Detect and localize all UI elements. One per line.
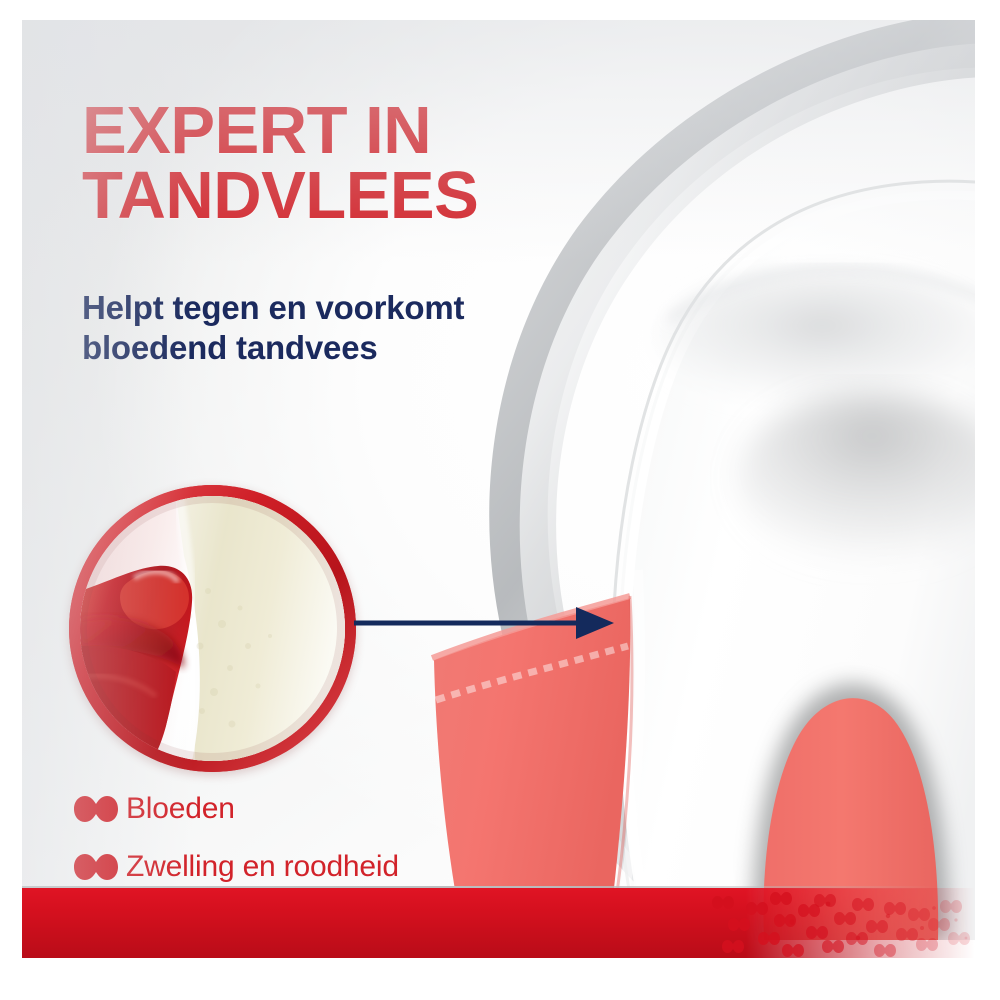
red-dissolve-band xyxy=(22,888,975,958)
page-title: EXPERT IN TANDVLEES xyxy=(82,98,478,228)
pointer-arrow xyxy=(352,603,617,643)
ad-banner: EXPERT IN TANDVLEES Helpt tegen en voork… xyxy=(0,0,1000,1000)
list-item-label: Zwelling en roodheid xyxy=(126,852,399,882)
list-item-label: Bloeden xyxy=(126,794,235,824)
list-item: Bloeden xyxy=(74,780,594,838)
content-panel: EXPERT IN TANDVLEES Helpt tegen en voork… xyxy=(22,20,975,955)
symptom-list: Bloeden Zwelling en roodheid xyxy=(74,780,594,896)
peanut-bullet-icon xyxy=(74,796,126,822)
subheading: Helpt tegen en voorkomt bloedend tandvee… xyxy=(82,288,464,369)
peanut-bullet-icon xyxy=(74,854,126,880)
magnifier-content xyxy=(80,496,345,761)
gum-closeup-magnifier xyxy=(69,485,356,772)
